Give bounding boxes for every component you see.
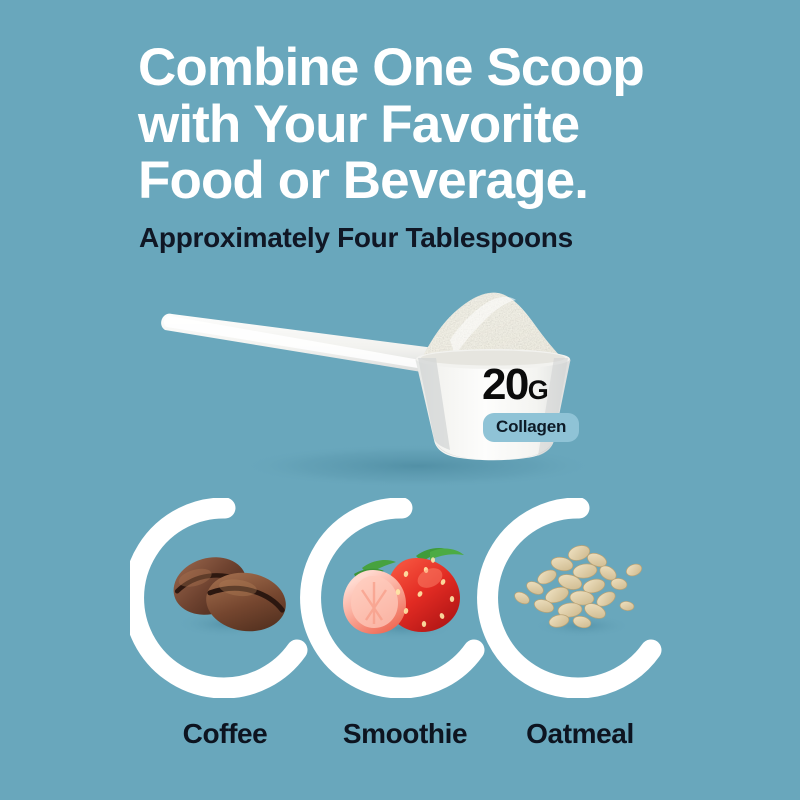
label-oatmeal: Oatmeal bbox=[526, 718, 634, 750]
dose-amount: 20G bbox=[482, 363, 548, 407]
dose-value: 20 bbox=[482, 360, 528, 409]
headline-line-2: with Your Favorite bbox=[138, 97, 698, 154]
promo-graphic: Combine One Scoop with Your Favorite Foo… bbox=[0, 0, 800, 800]
scoop-svg bbox=[150, 280, 650, 495]
headline-line-1: Combine One Scoop bbox=[138, 40, 698, 97]
subtitle: Approximately Four Tablespoons bbox=[139, 222, 573, 254]
scoop-illustration: 20G Collagen bbox=[150, 280, 650, 495]
strawberries-icon bbox=[343, 548, 464, 641]
label-smoothie: Smoothie bbox=[343, 718, 467, 750]
coffee-beans-icon bbox=[167, 549, 290, 638]
ring-oatmeal bbox=[488, 508, 651, 688]
pairing-labels: Coffee Smoothie Oatmeal bbox=[130, 718, 690, 762]
headline-line-3: Food or Beverage. bbox=[138, 153, 698, 210]
oat-flakes-icon bbox=[513, 543, 644, 638]
label-coffee: Coffee bbox=[183, 718, 268, 750]
rings-svg bbox=[130, 498, 690, 698]
pairings-rings bbox=[130, 498, 690, 698]
dose-unit: G bbox=[528, 375, 549, 405]
collagen-badge: Collagen bbox=[483, 413, 579, 442]
page-title: Combine One Scoop with Your Favorite Foo… bbox=[138, 40, 698, 210]
